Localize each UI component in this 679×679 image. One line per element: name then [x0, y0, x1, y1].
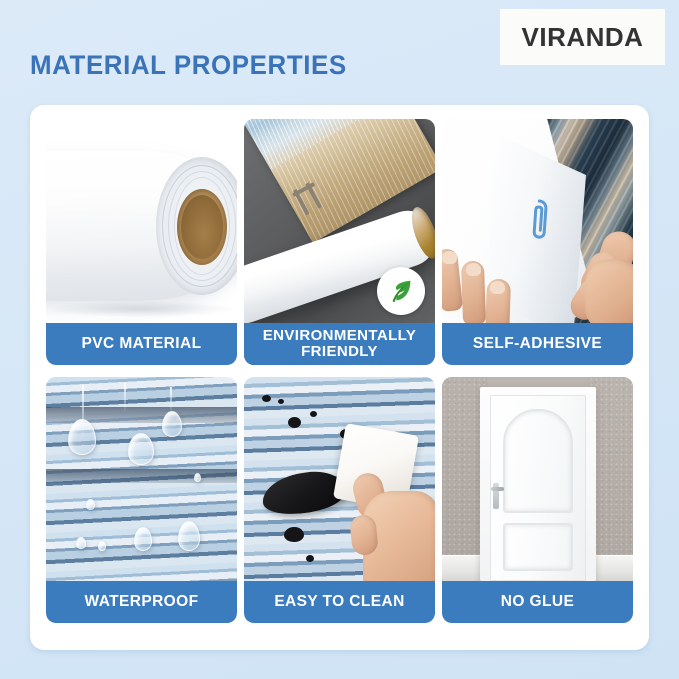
water-droplet [178, 521, 200, 551]
feature-card-pvc-material[interactable]: PVC MATERIAL [46, 119, 237, 365]
stain-droplet [310, 411, 317, 417]
tube-end-cap [407, 204, 435, 262]
water-droplet [194, 473, 201, 482]
water-droplet [86, 499, 95, 510]
door-handle-lever [491, 487, 504, 491]
card-label-bar: EASY TO CLEAN [244, 581, 435, 623]
card-label: NO GLUE [501, 594, 574, 610]
page-header: MATERIAL PROPERTIES VIRANDA [0, 0, 679, 105]
feature-card-waterproof[interactable]: WATERPROOF [46, 377, 237, 623]
water-droplet [98, 541, 106, 551]
card-label-bar: NO GLUE [442, 581, 633, 623]
roll-shadow [50, 301, 234, 317]
feature-card-self-adhesive[interactable]: SELF-ADHESIVE [442, 119, 633, 365]
card-label: PVC MATERIAL [82, 336, 202, 352]
stain-droplet [288, 417, 301, 428]
stain-droplet [262, 395, 271, 402]
door-panel-bottom [503, 523, 573, 571]
feature-card-no-glue[interactable]: NO GLUE [442, 377, 633, 623]
water-droplet [76, 537, 86, 549]
roll-body [46, 151, 237, 301]
drop-trail [124, 383, 126, 411]
card-label-line2: FRIENDLY [301, 343, 378, 360]
roll-core-hole [181, 195, 223, 259]
card-label-bar: ENVIRONMENTALLYFRIENDLY [244, 323, 435, 365]
right-hand [551, 225, 633, 327]
features-grid: PVC MATERIAL ENVIRONMENTALLYFRIENDLY [46, 119, 633, 623]
card-label: SELF-ADHESIVE [473, 336, 602, 352]
drop-trail [170, 387, 172, 411]
card-label-bar: SELF-ADHESIVE [442, 323, 633, 365]
plank-shadow-2 [46, 469, 237, 483]
card-label-line1: ENVIRONMENTALLY [263, 327, 417, 344]
stain-droplet [284, 527, 304, 542]
stain-droplet [306, 555, 314, 562]
water-droplet [134, 527, 152, 551]
feature-card-environmentally-friendly[interactable]: ENVIRONMENTALLYFRIENDLY [244, 119, 435, 365]
water-droplet [68, 419, 96, 455]
card-label-bar: PVC MATERIAL [46, 323, 237, 365]
card-label: EASY TO CLEAN [274, 594, 404, 610]
features-panel: PVC MATERIAL ENVIRONMENTALLYFRIENDLY [30, 105, 649, 650]
left-hand [442, 239, 532, 331]
door-panel-top [503, 409, 573, 513]
door-frame [480, 387, 596, 581]
hand [349, 443, 435, 603]
water-droplet [128, 433, 154, 465]
feature-card-easy-to-clean[interactable]: EASY TO CLEAN [244, 377, 435, 623]
card-label-bar: WATERPROOF [46, 581, 237, 623]
door [490, 395, 586, 581]
stain-droplet [278, 399, 284, 404]
water-droplet [162, 411, 182, 437]
card-label: ENVIRONMENTALLYFRIENDLY [263, 328, 417, 360]
page-title: MATERIAL PROPERTIES [30, 50, 347, 81]
brand-name: VIRANDA [522, 22, 644, 53]
card-label: WATERPROOF [85, 594, 199, 610]
leaf-icon [377, 267, 425, 315]
brand-logo: VIRANDA [500, 9, 665, 65]
